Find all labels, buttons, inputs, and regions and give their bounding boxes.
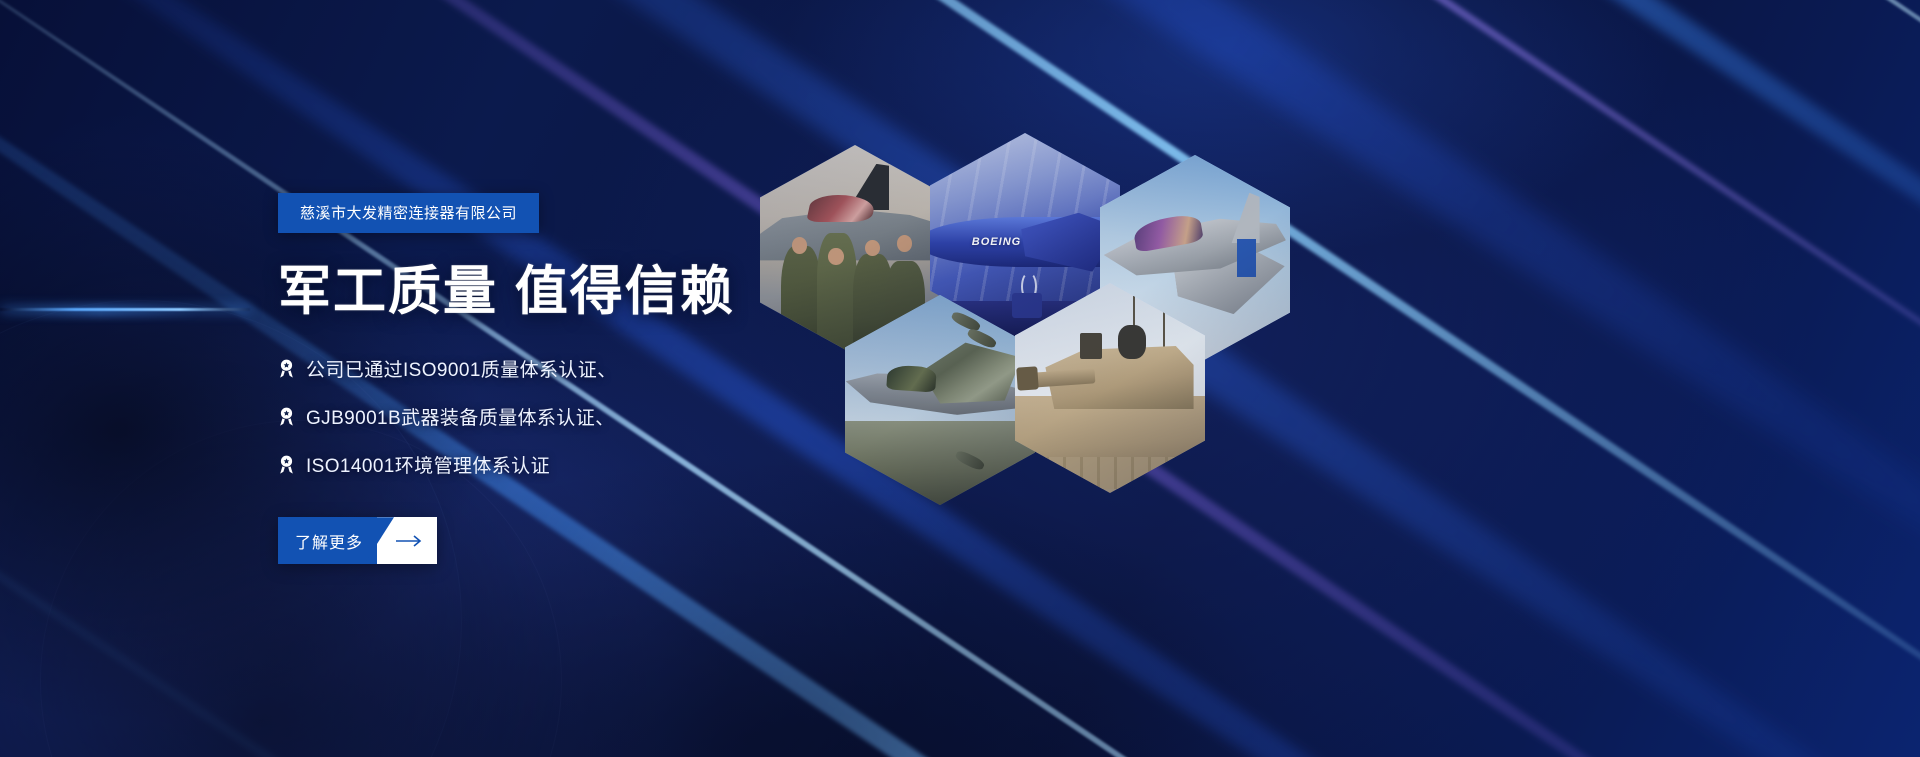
list-item-label: ISO14001环境管理体系认证 (306, 451, 550, 478)
hero-banner: BOEING (0, 0, 1920, 757)
list-item-label: 公司已通过ISO9001质量体系认证、 (306, 355, 617, 382)
learn-more-label: 了解更多 (278, 517, 377, 564)
list-item: GJB9001B武器装备质量体系认证、 (278, 403, 938, 430)
arrow-right-icon (395, 534, 425, 548)
horizontal-light-streak (0, 308, 250, 311)
list-item-label: GJB9001B武器装备质量体系认证、 (306, 403, 615, 430)
company-name-badge: 慈溪市大发精密连接器有限公司 (278, 193, 539, 233)
medal-icon (278, 455, 295, 474)
hero-headline: 军工质量 值得信赖 (278, 263, 938, 321)
list-item: 公司已通过ISO9001质量体系认证、 (278, 355, 938, 382)
certification-list: 公司已通过ISO9001质量体系认证、 GJB9001B武器装备质量体系认证、 (278, 355, 938, 478)
medal-icon (278, 359, 295, 378)
learn-more-button[interactable]: 了解更多 (278, 517, 437, 564)
medal-icon (278, 407, 295, 426)
list-item: ISO14001环境管理体系认证 (278, 451, 938, 478)
hero-content: 慈溪市大发精密连接器有限公司 军工质量 值得信赖 公司已通过ISO9001质量体… (278, 193, 938, 564)
